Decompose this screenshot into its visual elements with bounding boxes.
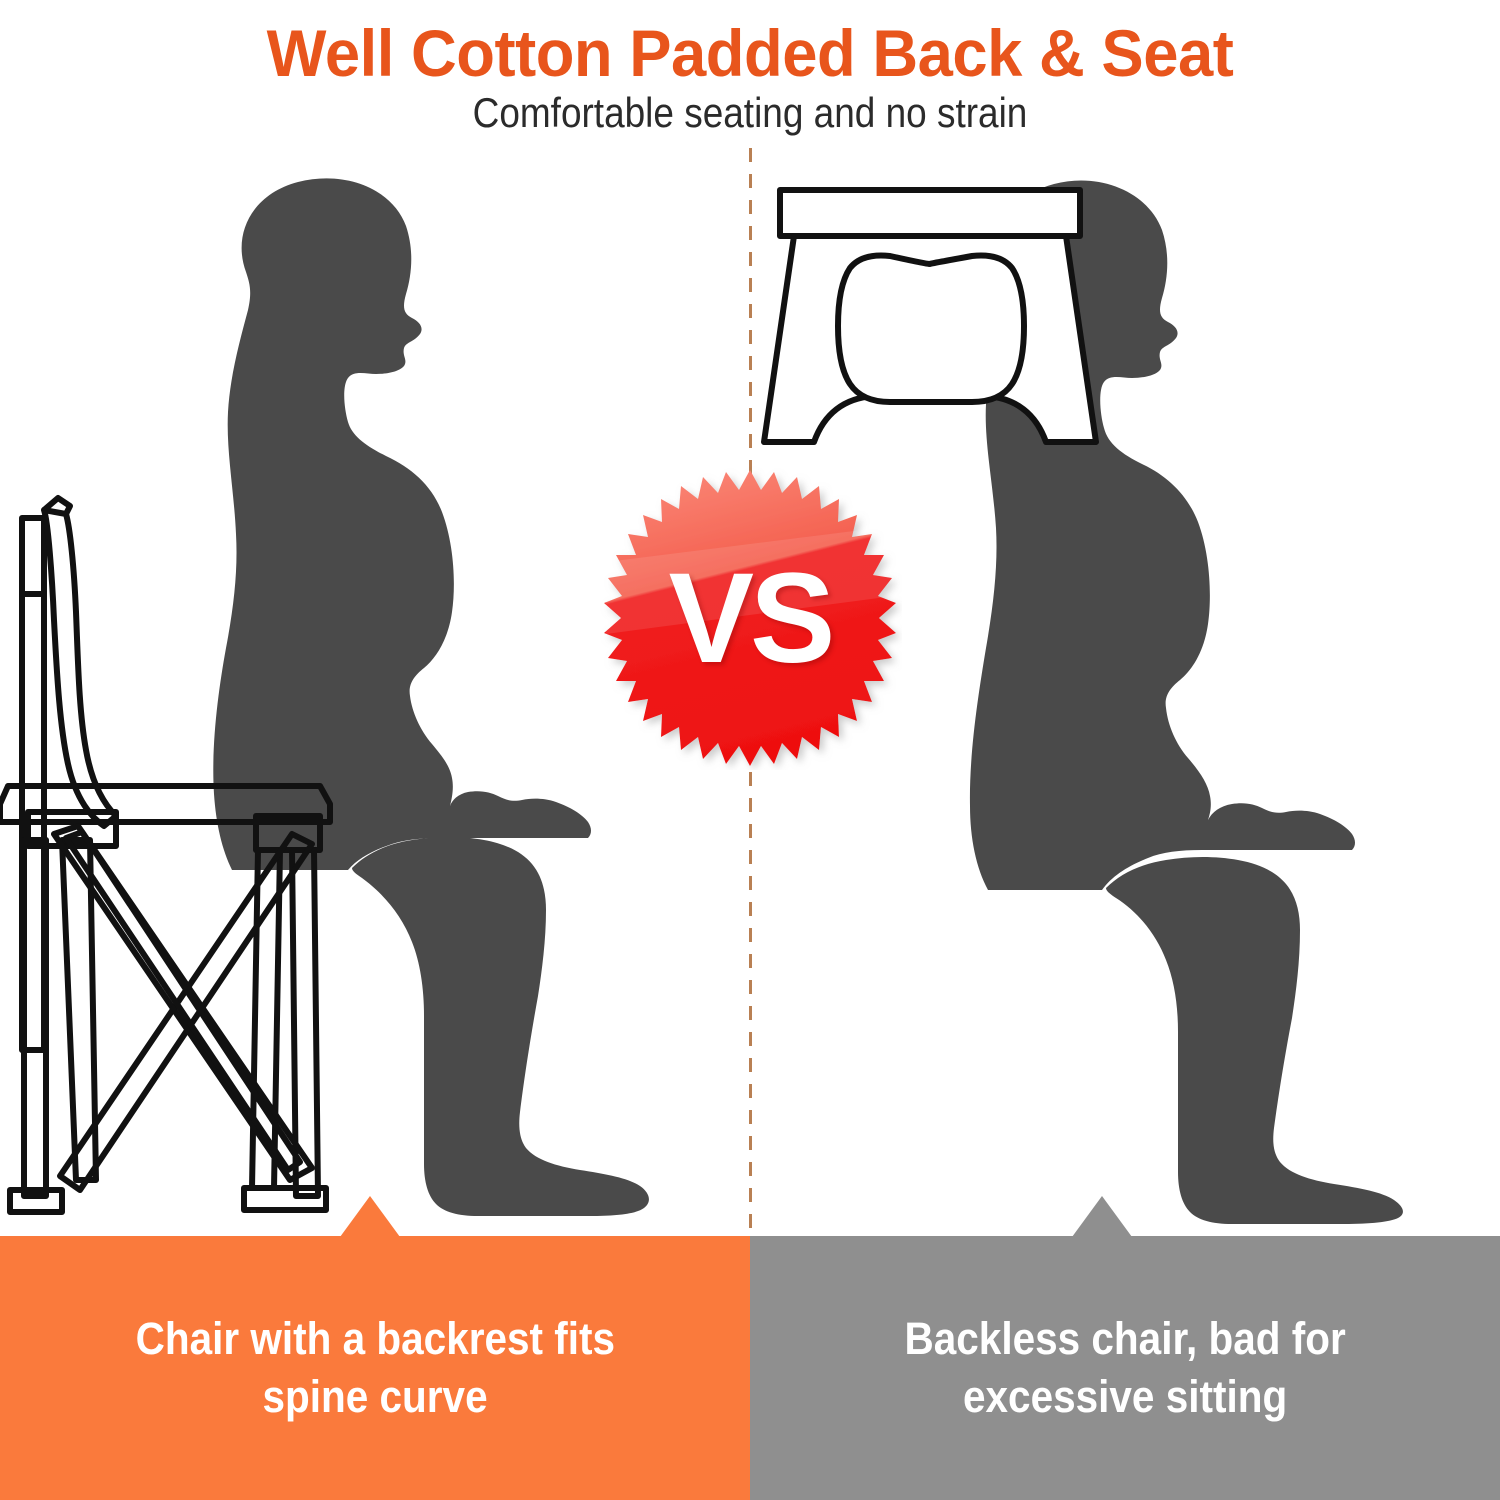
left-caption-line2: spine curve <box>262 1368 487 1426</box>
left-banner-pointer <box>340 1196 400 1237</box>
left-caption-line1: Chair with a backrest fits <box>135 1310 614 1368</box>
right-caption-line1: Backless chair, bad for <box>904 1310 1345 1368</box>
page-title: Well Cotton Padded Back & Seat <box>30 16 1470 90</box>
left-caption-banner: Chair with a backrest fits spine curve <box>0 1236 750 1500</box>
vs-label: VS <box>598 466 902 770</box>
right-caption-banner: Backless chair, bad for excessive sittin… <box>750 1236 1500 1500</box>
backless-step-stool <box>764 190 1096 442</box>
comparison-infographic: Well Cotton Padded Back & Seat Comfortab… <box>0 0 1500 1500</box>
right-caption-line2: excessive sitting <box>963 1368 1287 1426</box>
right-banner-pointer <box>1072 1196 1132 1237</box>
page-subtitle: Comfortable seating and no strain <box>90 88 1410 138</box>
vs-badge: VS <box>598 466 902 770</box>
